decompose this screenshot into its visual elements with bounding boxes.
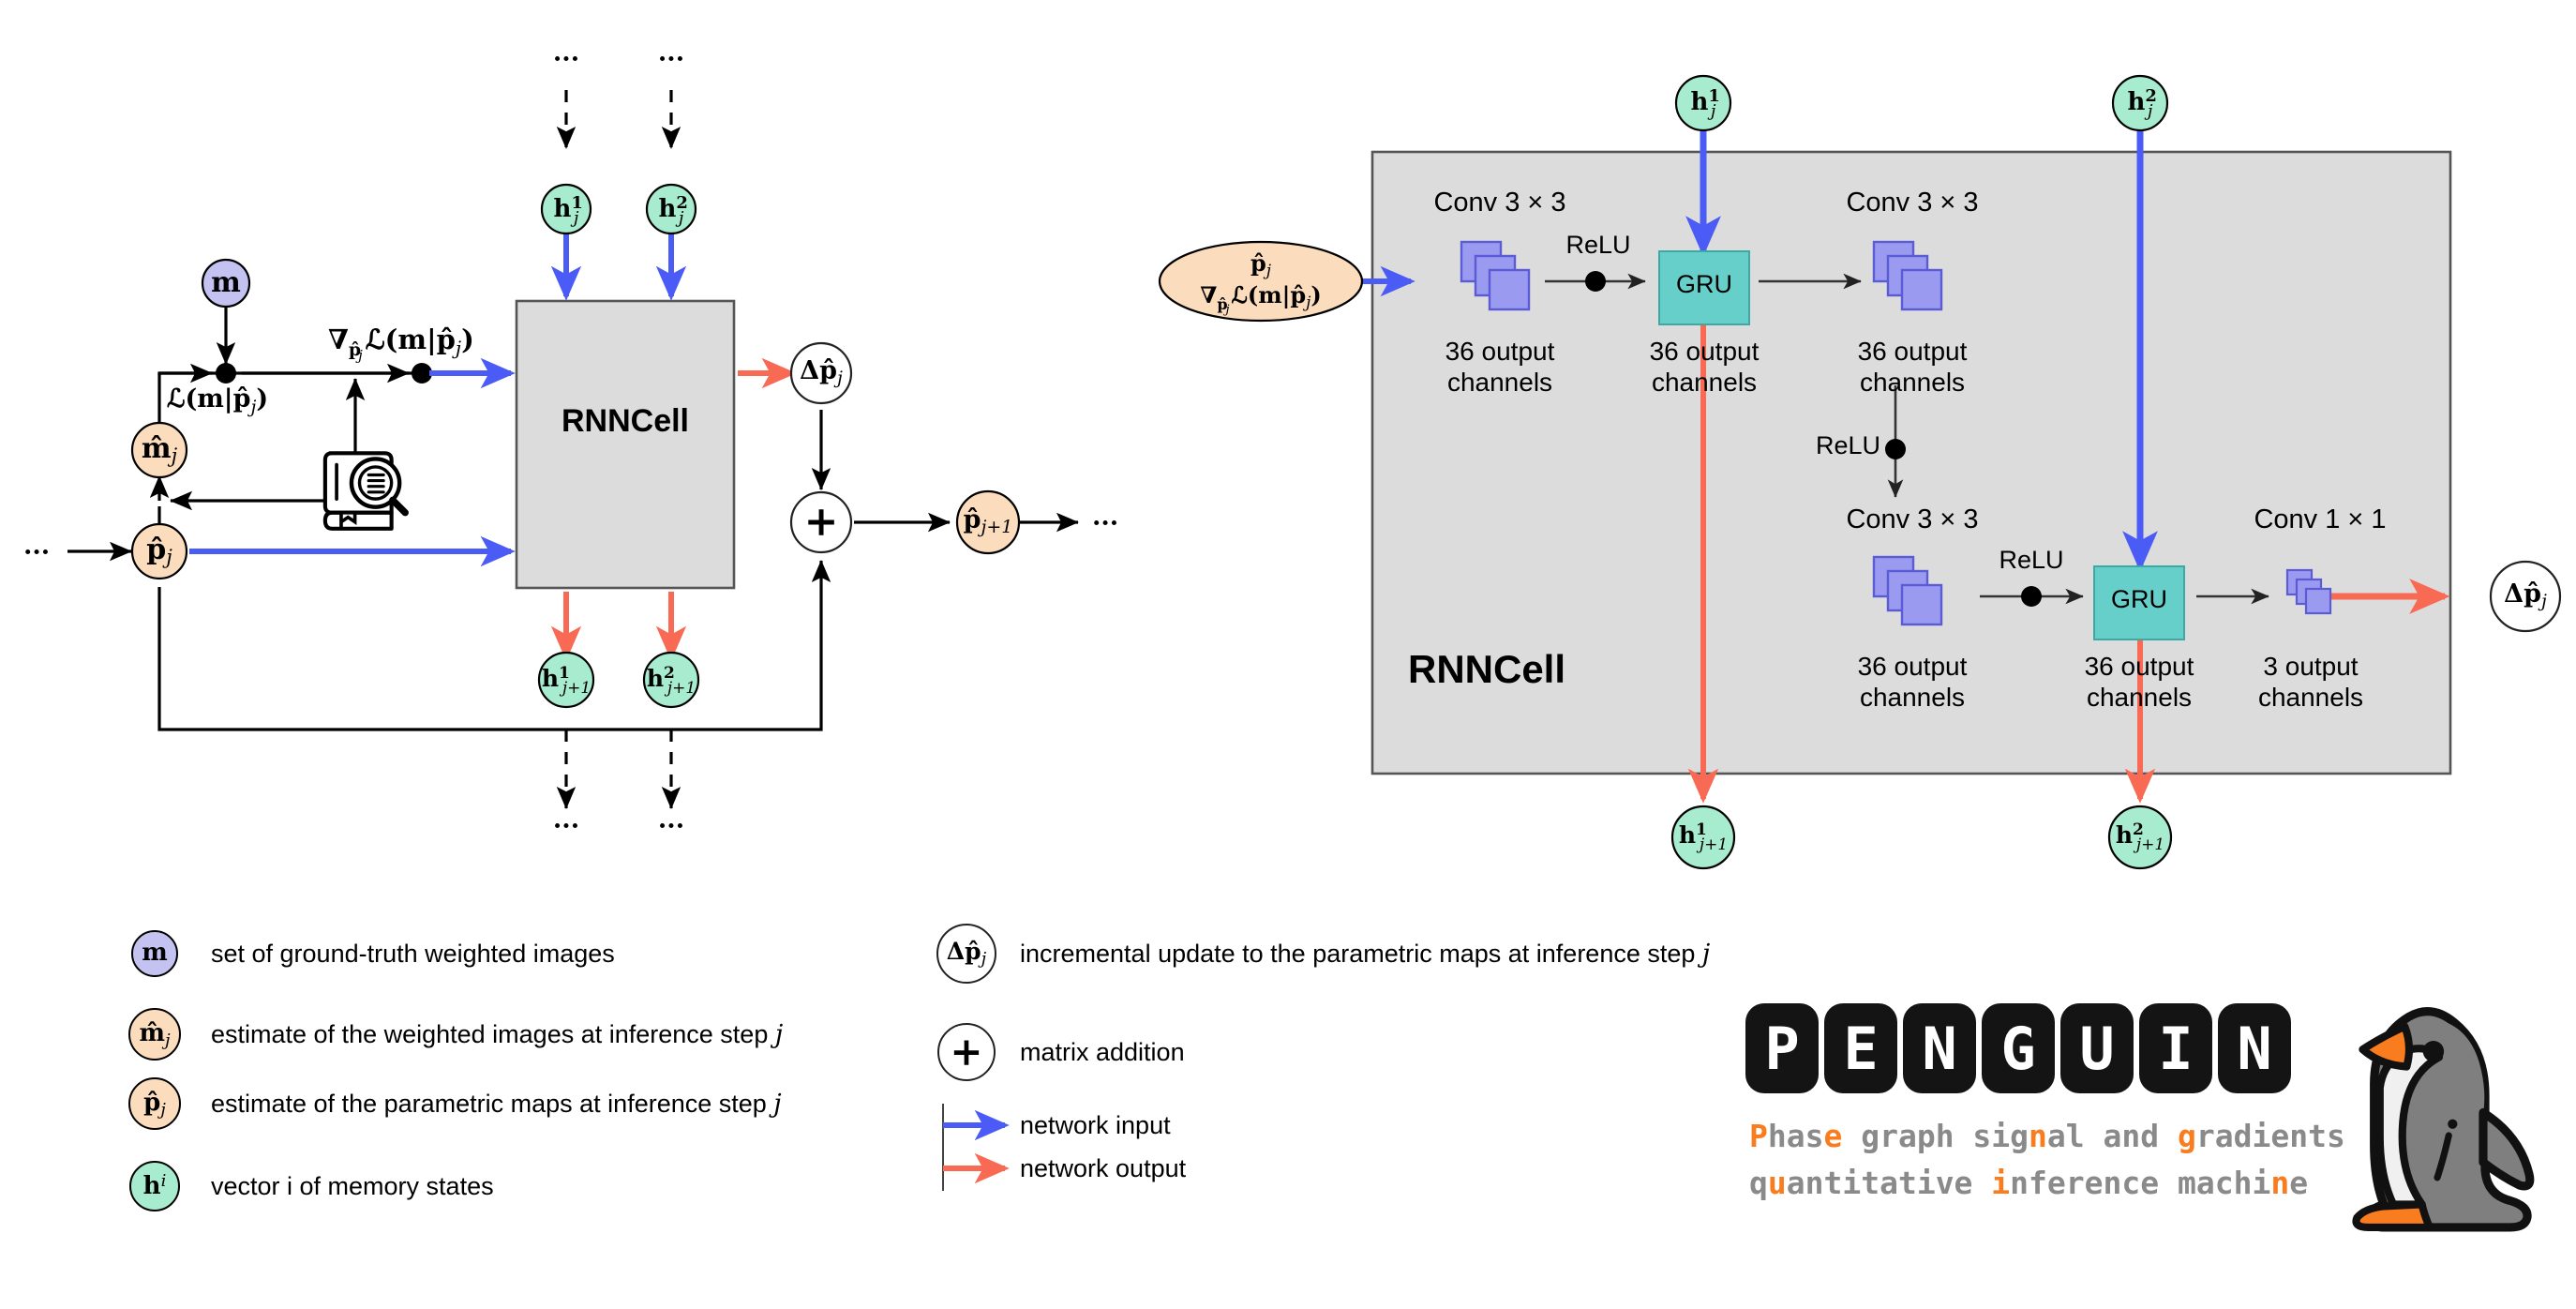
gru-2-label: GRU [2094,585,2184,614]
conv1-channels: 36 output channels [1397,336,1603,398]
book-magnifier-icon [325,453,405,529]
relu-1-label: ReLU [1547,231,1650,260]
left-junction-dot-grad [412,363,432,384]
logo-tagline-line2: quantitative inference machine [1749,1165,2308,1201]
right-relu3-dot [2021,586,2042,607]
logo-letter: I [2139,1003,2212,1093]
relu-2-label: ReLU [1777,431,1880,460]
right-relu2-dot [1885,439,1906,459]
ellipsis-bottom-1: ··· [553,812,579,841]
right-relu1-dot [1585,271,1606,292]
left-gradient-label: ∇p̂jℒ(m|p̂j) [328,323,474,364]
legend-label-delta: incremental update to the parametric map… [1020,940,1710,969]
logo-letter: U [2060,1003,2134,1093]
ellipsis-right-out: ··· [1092,509,1118,538]
left-rnncell-block [517,301,734,588]
left-junction-dot-loss [216,363,236,384]
ellipsis-top-1: ··· [553,45,579,74]
legend-label-p-hat: estimate of the parametric maps at infer… [211,1090,782,1119]
legend-label-m-hat: estimate of the weighted images at infer… [211,1020,783,1049]
left-rnncell-label: RNNCell [517,403,733,440]
conv4-title: Conv 1 × 1 [2226,504,2414,535]
logo-letter: P [1745,1003,1819,1093]
logo-letter: E [1824,1003,1897,1093]
ellipsis-top-2: ··· [658,45,684,74]
logo-letter: G [1982,1003,2055,1093]
logo-wordmark: P E N G U I N [1745,1003,2291,1093]
left-dashed-out [566,730,671,808]
left-dashed-in [566,90,671,148]
legend-label-network-input: network input [1020,1111,1171,1140]
gru-1-label: GRU [1659,270,1749,299]
ellipsis-left-in: ··· [23,538,50,567]
figure-canvas: ··· ··· ··· ··· ··· ··· [0,0,2576,1309]
conv2-title: Conv 3 × 3 [1819,188,2006,218]
relu-3-label: ReLU [1980,546,2083,575]
logo-letter: N [1903,1003,1976,1093]
legend-label-m: set of ground-truth weighted images [211,940,615,969]
logo-tagline-line1: Phase graph signal and gradients [1749,1118,2345,1154]
penguin-icon [2357,1012,2530,1227]
logo-letter: N [2218,1003,2291,1093]
conv3-channels: 36 output channels [1809,651,2015,713]
right-rnncell-label: RNNCell [1372,647,1708,692]
legend-label-plus: matrix addition [1020,1038,1185,1067]
conv3-title: Conv 3 × 3 [1819,504,2006,535]
conv1-title: Conv 3 × 3 [1406,188,1594,218]
left-loss-label: ℒ(m|p̂j) [167,384,268,417]
legend-label-network-output: network output [1020,1154,1186,1183]
legend-label-h: vector i of memory states [211,1172,494,1201]
gru1-channels: 36 output channels [1601,336,1807,398]
conv2-channels: 36 output channels [1809,336,2015,398]
ellipsis-bottom-2: ··· [658,812,684,841]
conv4-channels: 3 output channels [2208,651,2414,713]
